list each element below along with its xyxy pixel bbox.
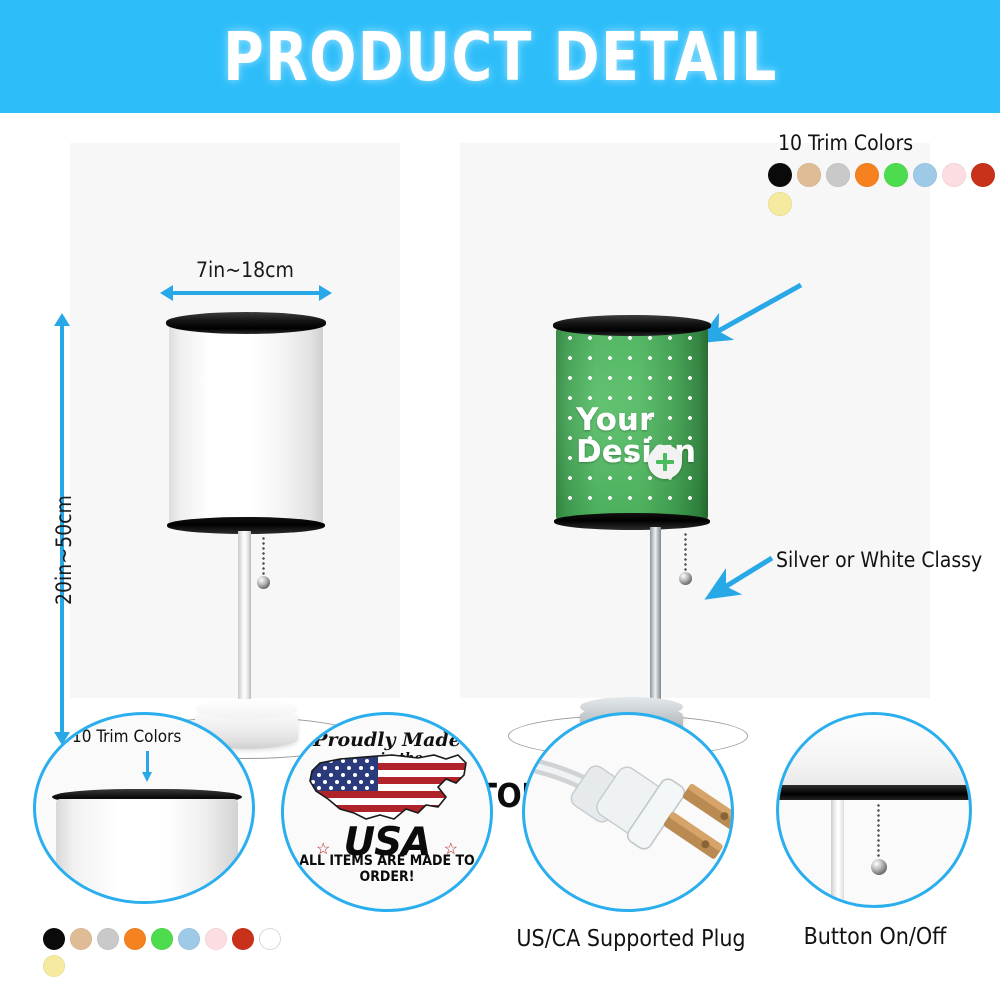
trim-swatch-white[interactable]	[259, 928, 281, 950]
trim-swatch-orange[interactable]	[124, 928, 146, 950]
made-in-usa-circle: Proudly Made in the	[281, 712, 493, 912]
page-header: PRODUCT DETAIL	[0, 0, 1000, 113]
trim-swatch-brick-red[interactable]	[232, 928, 254, 950]
usa-line-4: ALL ITEMS ARE MADE TO ORDER!	[284, 853, 490, 885]
trim-colors-swatch-row	[768, 163, 1000, 216]
trim-swatch-pale-yellow[interactable]	[768, 192, 792, 216]
trim-swatch-light-gray[interactable]	[826, 163, 850, 187]
trim-swatch-green[interactable]	[151, 928, 173, 950]
trim-colors-inner-arrow	[146, 751, 149, 773]
trim-swatch-tan[interactable]	[70, 928, 92, 950]
base-finish-arrow-icon	[700, 553, 778, 603]
switch-pole	[831, 800, 844, 908]
trim-swatch-light-blue[interactable]	[178, 928, 200, 950]
trim-swatch-brick-red[interactable]	[971, 163, 995, 187]
trim-swatch-light-gray[interactable]	[97, 928, 119, 950]
custom-design-text: Your Design	[556, 405, 708, 468]
power-plug-icon	[525, 715, 734, 912]
height-dimension-label: 20in~50cm	[52, 495, 76, 605]
left-chain-beads	[262, 536, 265, 578]
trim-colors-circle: 10 Trim Colors	[33, 712, 255, 904]
trim-swatch-pink[interactable]	[942, 163, 966, 187]
left-pull-chain[interactable]	[262, 536, 264, 578]
right-chain-beads	[684, 532, 687, 574]
width-dimension-label: 7in~18cm	[196, 258, 294, 282]
switch-circle	[776, 712, 972, 908]
page-title: PRODUCT DETAIL	[223, 18, 778, 96]
right-lamp-pole	[650, 527, 661, 699]
lampshade-body-icon	[56, 799, 238, 904]
base-finish-callout-label: Silver or White Classy	[776, 548, 982, 572]
trim-swatch-orange[interactable]	[855, 163, 879, 187]
left-lampshade	[169, 320, 323, 529]
usa-map-flag-icon	[306, 749, 474, 831]
trim-swatch-black[interactable]	[43, 928, 65, 950]
plus-icon[interactable]	[648, 445, 682, 479]
left-chain-ball	[257, 576, 270, 589]
feature-callouts: 10 Trim Colors Proudly Made in the	[0, 712, 1000, 1000]
usa-badge: Proudly Made in the	[284, 715, 490, 909]
left-lamp-pole	[238, 531, 251, 699]
switch-caption: Button On/Off	[760, 924, 990, 950]
switch-trim-band	[776, 785, 972, 800]
trim-swatch-light-blue[interactable]	[913, 163, 937, 187]
right-lampshade: Your Design	[556, 323, 708, 525]
trim-swatch-pink[interactable]	[205, 928, 227, 950]
trim-swatch-pale-yellow[interactable]	[43, 955, 65, 977]
trim-colors-inner-label: 10 Trim Colors	[72, 727, 181, 747]
trim-swatch-green[interactable]	[884, 163, 908, 187]
trim-colors-callout-label: 10 Trim Colors	[778, 131, 913, 155]
trim-swatch-black[interactable]	[768, 163, 792, 187]
product-showcase: 10 Trim Colors 7in~18cm 20in~50cm	[0, 113, 1000, 713]
right-lampshade-bottom-trim	[554, 513, 710, 530]
feature-trim-swatch-row	[43, 928, 279, 977]
switch-shade-bottom	[776, 712, 972, 787]
switch-chain-ball	[871, 859, 887, 875]
right-pull-chain[interactable]	[684, 532, 686, 574]
left-lampshade-top-trim	[166, 312, 326, 334]
right-lampshade-top-trim	[553, 315, 711, 336]
plug-circle	[522, 712, 734, 912]
plug-caption: US/CA Supported Plug	[508, 926, 754, 952]
switch-chain-beads	[877, 803, 880, 863]
pull-chain-icon[interactable]	[877, 803, 879, 863]
usa-line-1: Proudly Made	[284, 729, 490, 751]
right-chain-ball	[679, 572, 692, 585]
width-dimension-arrow	[172, 291, 320, 295]
design-line-1: Your	[576, 402, 654, 438]
trim-swatch-tan[interactable]	[797, 163, 821, 187]
